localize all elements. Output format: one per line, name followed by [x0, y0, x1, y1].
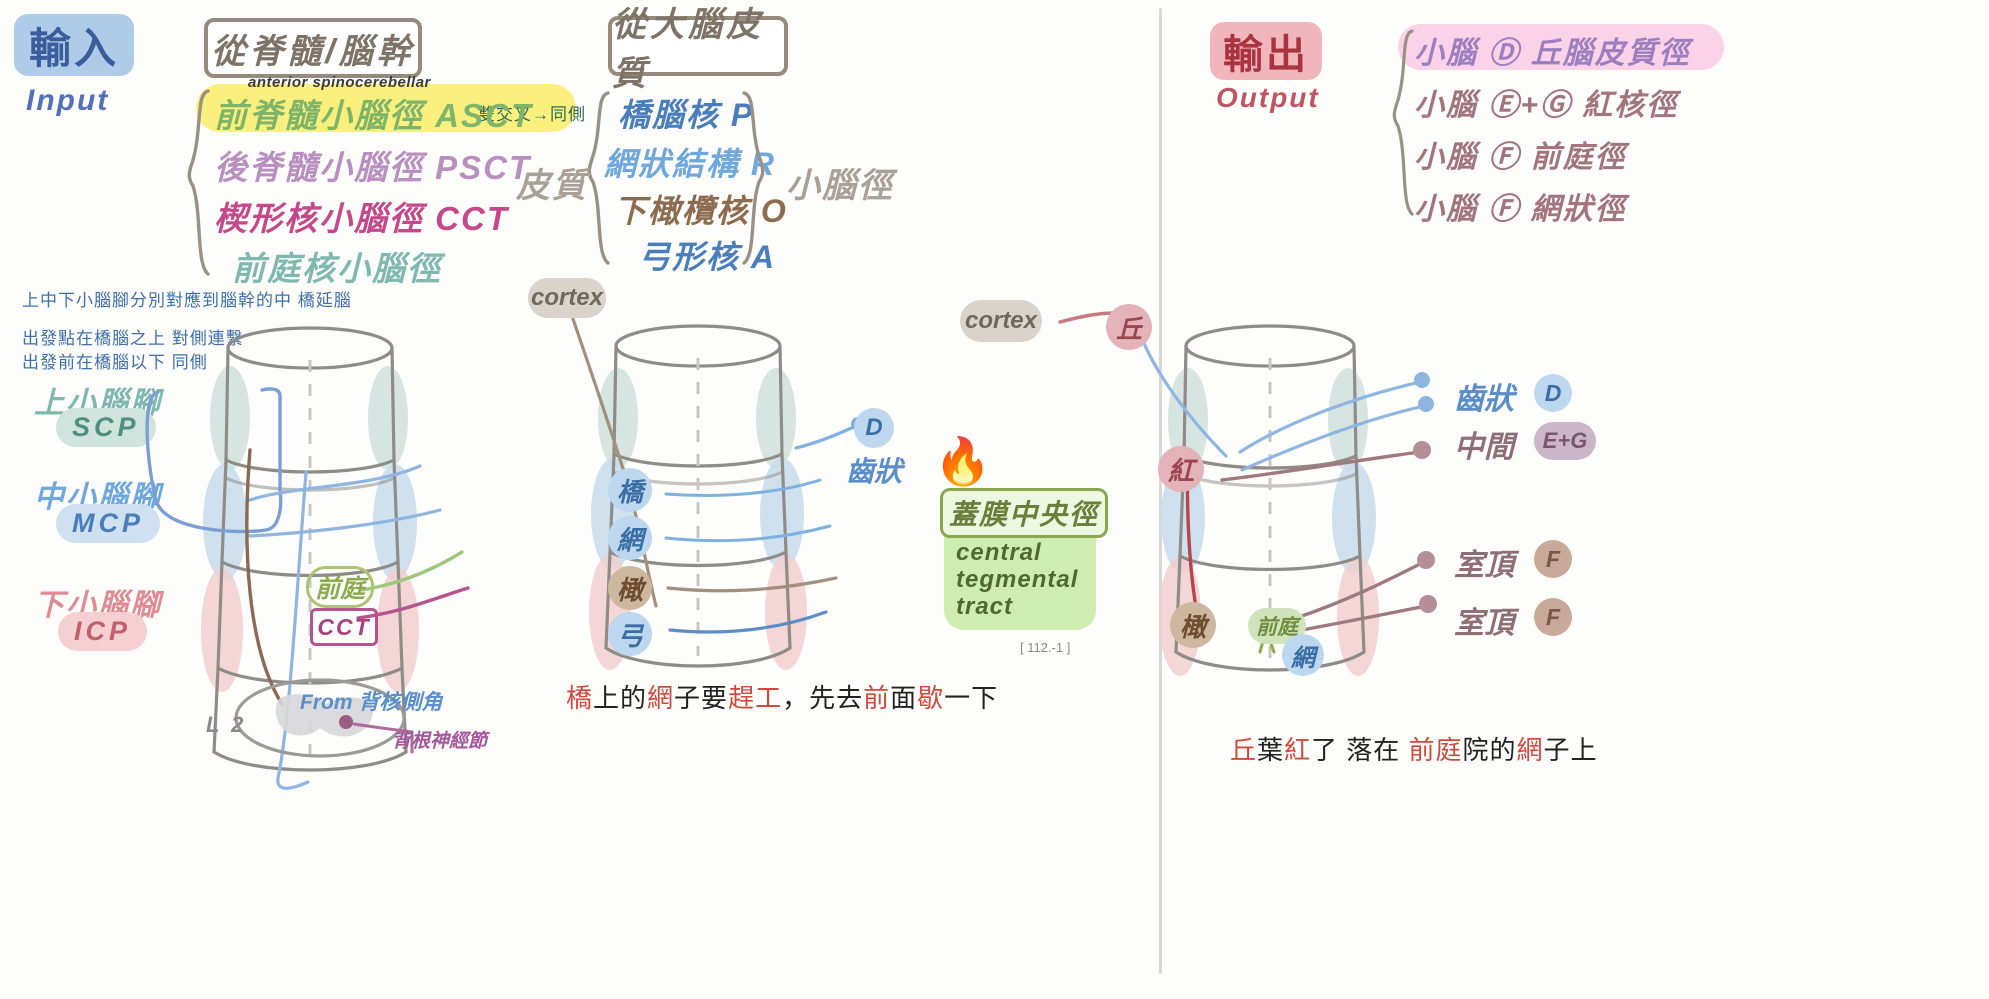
right-caption-p7: 子上 [1544, 735, 1598, 765]
output-item-3: 小腦 Ⓕ 網狀徑 [1414, 184, 1627, 228]
left-from-label: From 背核側角 [300, 686, 442, 716]
mid-caption-p2: 網 [647, 683, 674, 713]
right-caption-p2: 紅 [1284, 735, 1311, 765]
cortex-left-label: 皮質 [516, 158, 588, 207]
mid-dentate-letter: D [854, 408, 894, 448]
spinal-item-1: 後脊髓小腦徑 PSCT [214, 141, 531, 189]
cortex-brace-right [740, 90, 766, 266]
right-label-fastigial-1: 室頂 [1454, 540, 1514, 584]
mid-caption-p9: 一下 [944, 683, 998, 713]
left-cct-tag: CCT [310, 608, 378, 646]
right-rednucleus-bubble: 紅 [1158, 446, 1204, 492]
spinal-item-0: 前脊髓小腦徑 ASCT [214, 89, 533, 137]
fire-icon: 🔥 [934, 438, 991, 484]
right-label-interposed: 中間 [1454, 422, 1514, 466]
right-letter-dentate: D [1534, 374, 1572, 412]
spinal-item-2: 楔形核小腦徑 CCT [214, 192, 509, 240]
right-thalamus-bubble: 丘 [1106, 304, 1152, 350]
diagram-canvas: 輸入 Input 輸出 Output 從脊髓/腦幹 從大腦皮質 anterior… [0, 0, 1989, 999]
output-item-0: 小腦 Ⓓ 丘腦皮質徑 [1414, 28, 1691, 72]
mid-caption: 橋上的網子要趕工，先去前面歇一下 [566, 678, 998, 715]
tectal-english: central tegmental tract [956, 540, 1078, 621]
output-item-2: 小腦 Ⓕ 前庭徑 [1414, 132, 1627, 176]
mid-caption-p5: ，先去 [782, 683, 863, 713]
output-item-1: 小腦 Ⓔ+Ⓖ 紅核徑 [1414, 80, 1678, 124]
mid-brainstem-diagram [520, 300, 940, 720]
left-drg-label: 背根神經節 [392, 726, 487, 753]
right-label-fastigial-2: 室頂 [1454, 598, 1514, 642]
right-caption-p3: 了 落在 [1311, 735, 1408, 765]
mid-bubble-pons: 橋 [608, 468, 652, 512]
mid-bubble-olive: 橄 [608, 566, 652, 610]
left-l2-label: L 2 [206, 712, 246, 738]
section-title-cortex: 從大腦皮質 [608, 16, 788, 76]
mid-caption-p1: 上的 [593, 683, 647, 713]
mid-caption-p0: 橋 [566, 683, 593, 713]
mid-caption-p8: 歇 [917, 683, 944, 713]
tectal-title: 蓋膜中央徑 [940, 488, 1108, 538]
right-olive-bubble: 橄 [1170, 602, 1216, 648]
mid-caption-p6: 前 [863, 683, 890, 713]
mid-bubble-arcuate: 弓 [608, 612, 652, 656]
input-chip: 輸入 [14, 14, 134, 76]
right-reticular-bubble: 網 [1282, 634, 1324, 676]
right-caption-p1: 葉 [1257, 735, 1284, 765]
spinal-brace [186, 88, 212, 278]
tectal-en-3: tract [956, 594, 1078, 621]
right-caption-p6: 網 [1517, 735, 1544, 765]
output-sublabel: Output [1216, 82, 1320, 114]
mid-cortex-bubble: cortex [528, 278, 606, 318]
spinal-item-3: 前庭核小腦徑 [232, 242, 442, 290]
output-brace [1392, 28, 1416, 218]
input-sublabel: Input [26, 84, 109, 118]
mid-dentate-label: 齒狀 [846, 450, 902, 490]
left-vestibular-tag: 前庭 [306, 566, 374, 608]
cortex-item-0: 橋腦核 P [618, 90, 754, 136]
cortex-right-label: 小腦徑 [786, 158, 894, 207]
mid-caption-p7: 面 [890, 683, 917, 713]
tectal-en-2: tegmental [956, 567, 1078, 594]
mid-bubble-reticular: 網 [608, 516, 652, 560]
mid-caption-p4: 趕工 [728, 683, 782, 713]
mid-caption-p3: 子要 [674, 683, 728, 713]
right-letter-interposed: E+G [1534, 422, 1596, 460]
right-caption-p0: 丘 [1230, 735, 1257, 765]
output-chip: 輸出 [1210, 22, 1322, 80]
section-title-spinal: 從脊髓/腦幹 [204, 18, 422, 78]
right-caption-p5: 院的 [1463, 735, 1517, 765]
right-label-dentate: 齒狀 [1454, 374, 1514, 418]
tectal-ref: [ 112.-1 ] [1020, 640, 1070, 655]
right-letter-fastigial-1: F [1534, 540, 1572, 578]
right-letter-fastigial-2: F [1534, 598, 1572, 636]
right-cortex-bubble: cortex [960, 300, 1042, 342]
tectal-en-1: central [956, 540, 1078, 567]
right-caption-p4: 前庭 [1409, 735, 1463, 765]
right-caption: 丘葉紅了 落在 前庭院的網子上 [1230, 730, 1598, 767]
